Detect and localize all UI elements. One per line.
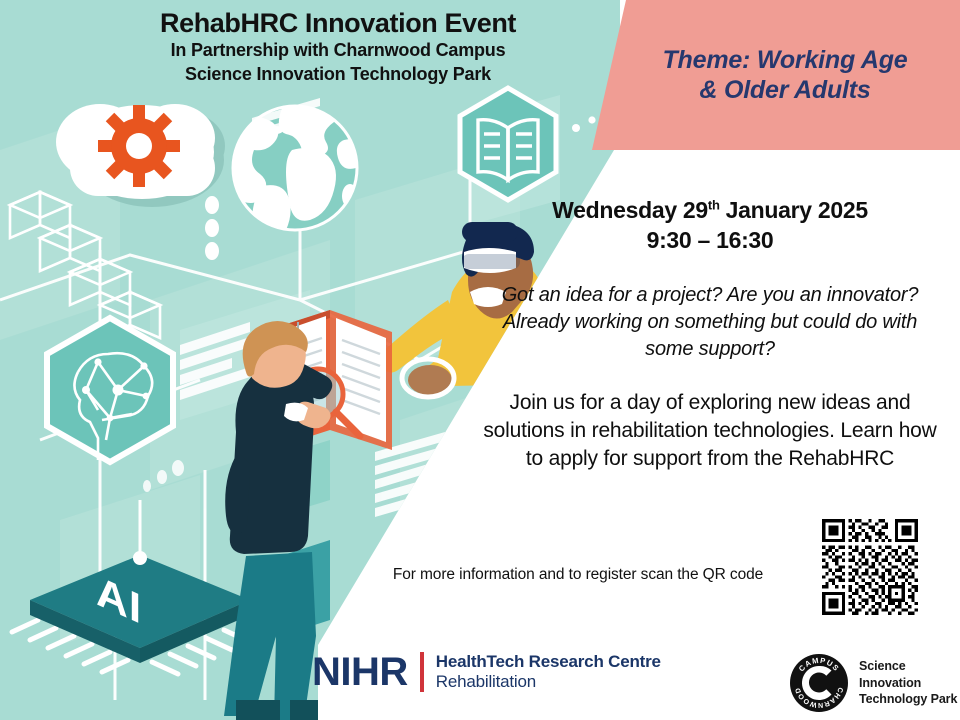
nihr-logo: NIHR HealthTech Research Centre Rehabili… <box>312 652 661 693</box>
charnwood-campus-badge-icon: CAMPUS CHARNWOOD <box>788 652 850 714</box>
theme-line-2: & Older Adults <box>662 75 907 106</box>
event-poster: AI <box>0 0 960 720</box>
event-date-ordinal: th <box>708 197 720 212</box>
charnwood-line-3: Technology Park <box>859 691 957 708</box>
charnwood-line-1: Science <box>859 658 957 675</box>
charnwood-line-2: Innovation <box>859 675 957 692</box>
event-time: 9:30 – 16:30 <box>470 226 950 256</box>
page-title: RehabHRC Innovation Event <box>108 8 568 38</box>
gear-icon <box>98 105 180 187</box>
subtitle-line-1: In Partnership with Charnwood Campus <box>108 39 568 62</box>
qr-code[interactable] <box>822 519 918 615</box>
event-date-suffix: January 2025 <box>720 197 868 223</box>
event-details: Wednesday 29th January 2025 9:30 – 16:30… <box>470 196 950 473</box>
poster-header: RehabHRC Innovation Event In Partnership… <box>108 8 568 86</box>
nihr-line-2: Rehabilitation <box>436 672 661 692</box>
event-hook-text: Got an idea for a project? Are you an in… <box>470 282 950 363</box>
theme-line-1: Theme: Working Age <box>662 45 907 76</box>
charnwood-campus-logo: CAMPUS CHARNWOOD Science Innovation Tech… <box>788 652 957 714</box>
event-body-text: Join us for a day of exploring new ideas… <box>470 389 950 473</box>
event-date-prefix: Wednesday 29 <box>552 197 708 223</box>
dot-trail <box>205 196 219 260</box>
qr-instruction-text: For more information and to register sca… <box>352 566 804 584</box>
theme-text: Theme: Working Age & Older Adults <box>662 45 907 106</box>
charnwood-campus-text: Science Innovation Technology Park <box>859 658 957 708</box>
open-book-icon <box>460 88 556 200</box>
theme-banner: Theme: Working Age & Older Adults <box>592 0 960 150</box>
subtitle-line-2: Science Innovation Technology Park <box>108 63 568 86</box>
nihr-divider-rule <box>420 652 424 692</box>
nihr-wordmark: NIHR <box>312 652 408 692</box>
nihr-descriptor: HealthTech Research Centre Rehabilitatio… <box>436 652 661 693</box>
nihr-line-1: HealthTech Research Centre <box>436 652 661 672</box>
event-date: Wednesday 29th January 2025 <box>470 196 950 226</box>
